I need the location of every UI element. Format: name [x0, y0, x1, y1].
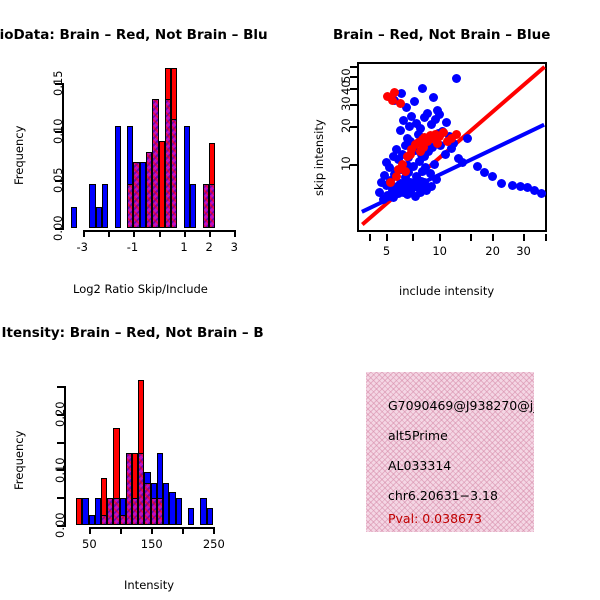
histogram-bar — [115, 126, 121, 228]
histogram-bar — [188, 508, 194, 525]
x-axis-tick-label: 2 — [206, 240, 213, 254]
info-pvalue: Pval: 0.038673 — [388, 511, 482, 526]
y-axis-tick-label: 0.20 — [53, 401, 67, 427]
histogram-bar-overlap — [171, 119, 177, 228]
x-axis-tick-label: 10 — [432, 244, 447, 258]
y-axis-tick — [57, 497, 64, 499]
histogram-bar — [71, 207, 77, 228]
scatter-point-not-brain — [418, 84, 427, 93]
scatter-point-not-brain — [377, 178, 386, 187]
x-axis-tick — [108, 230, 110, 237]
x-axis-tick — [386, 234, 388, 241]
x-axis-tick — [89, 527, 91, 534]
scatter-point-brain — [416, 147, 425, 156]
info-accession: AL033314 — [388, 458, 451, 473]
y-axis-tick-label: 0.10 — [53, 457, 67, 483]
info-coordinates: chr6.20631−3.18 — [388, 488, 498, 503]
y-axis-tick-label: 0.15 — [51, 70, 65, 96]
x-axis-tick-label: -3 — [76, 240, 87, 254]
histogram-bar — [102, 184, 108, 228]
x-axis-tick — [412, 234, 414, 241]
scatter-point-not-brain — [442, 118, 451, 127]
x-axis-tick — [523, 234, 525, 241]
scatter-title: Brain – Red, Not Brain – Blue — [333, 27, 550, 43]
scatter-point-not-brain — [458, 158, 467, 167]
y-axis-tick-label: 50 — [339, 68, 353, 83]
y-axis-minor-tick — [350, 66, 357, 68]
scatter-point-not-brain — [396, 126, 405, 135]
scatter-xlabel: include intensity — [399, 284, 494, 298]
x-axis-tick — [151, 527, 153, 534]
scatter-point-brain — [396, 99, 405, 108]
scatter-ylabel: skip intensity — [312, 119, 326, 196]
ratio-histogram-title: atioData: Brain – Red, Not Brain – Blu — [0, 27, 268, 43]
y-axis-tick — [57, 442, 64, 444]
x-axis-tick — [439, 234, 441, 241]
ratio-histogram-xlabel: Log2 Ratio Skip/Include — [73, 282, 208, 296]
y-axis-tick-label: 20 — [339, 119, 353, 134]
scatter-point-not-brain — [488, 172, 497, 181]
y-axis-tick-label: 0.00 — [53, 513, 67, 539]
scatter-point-not-brain — [432, 175, 441, 184]
x-axis-tick — [234, 230, 236, 237]
histogram-bar-overlap — [209, 184, 215, 228]
x-axis-tick — [213, 527, 215, 534]
y-axis-tick-label: 30 — [339, 96, 353, 111]
x-axis-tick-label: 150 — [141, 537, 163, 551]
info-event-id: G7090469@J938270@j_ — [388, 398, 534, 413]
scatter-point-brain — [406, 150, 415, 159]
x-axis-tick — [133, 230, 135, 237]
x-axis-tick-label: -1 — [127, 240, 138, 254]
plot-page: atioData: Brain – Red, Not Brain – Blu F… — [0, 0, 600, 600]
x-axis-tick-label: 50 — [82, 537, 97, 551]
x-axis-tick-label: 250 — [203, 537, 225, 551]
x-axis-tick — [83, 230, 85, 237]
y-axis-tick-label: 0.05 — [51, 167, 65, 193]
scatter-point-brain — [392, 172, 401, 181]
x-axis-tick — [120, 527, 122, 534]
x-axis-tick — [159, 230, 161, 237]
x-axis-tick-label: 5 — [383, 244, 390, 258]
intensity-histogram-xlabel: Intensity — [124, 578, 174, 592]
scatter-point-not-brain — [452, 74, 461, 83]
x-axis-tick — [184, 230, 186, 237]
scatter-point-not-brain — [430, 160, 439, 169]
x-axis-tick — [369, 234, 371, 241]
scatter-point-brain — [401, 167, 410, 176]
y-axis-line — [62, 83, 64, 230]
scatter-point-not-brain — [537, 189, 546, 198]
x-axis-tick — [182, 527, 184, 534]
x-axis-tick — [470, 234, 472, 241]
x-axis-tick-label: 30 — [516, 244, 531, 258]
x-axis-tick-label: 3 — [231, 240, 238, 254]
info-event-type: alt5Prime — [388, 428, 448, 443]
y-axis-tick-label: 0.00 — [51, 216, 65, 242]
y-axis-tick-label: 0.10 — [51, 119, 65, 145]
histogram-bar — [190, 184, 196, 228]
intensity-histogram-title: ne Itensity: Brain – Red, Not Brain – B — [0, 325, 264, 341]
intensity-histogram-ylabel: Frequency — [12, 431, 26, 490]
y-axis-tick-label: 10 — [339, 157, 353, 172]
scatter-point-not-brain — [497, 179, 506, 188]
x-axis-tick-label: 1 — [180, 240, 187, 254]
x-axis-tick — [545, 234, 547, 241]
histogram-bar — [176, 498, 182, 525]
scatter-point-not-brain — [463, 134, 472, 143]
histogram-bar — [207, 508, 213, 525]
event-info-box: G7090469@J938270@j_ alt5Prime AL033314 c… — [366, 372, 534, 532]
x-axis-tick — [209, 230, 211, 237]
x-axis-tick — [492, 234, 494, 241]
y-axis-tick — [57, 386, 64, 388]
ratio-histogram-ylabel: Frequency — [12, 126, 26, 185]
x-axis-tick-label: 20 — [485, 244, 500, 258]
